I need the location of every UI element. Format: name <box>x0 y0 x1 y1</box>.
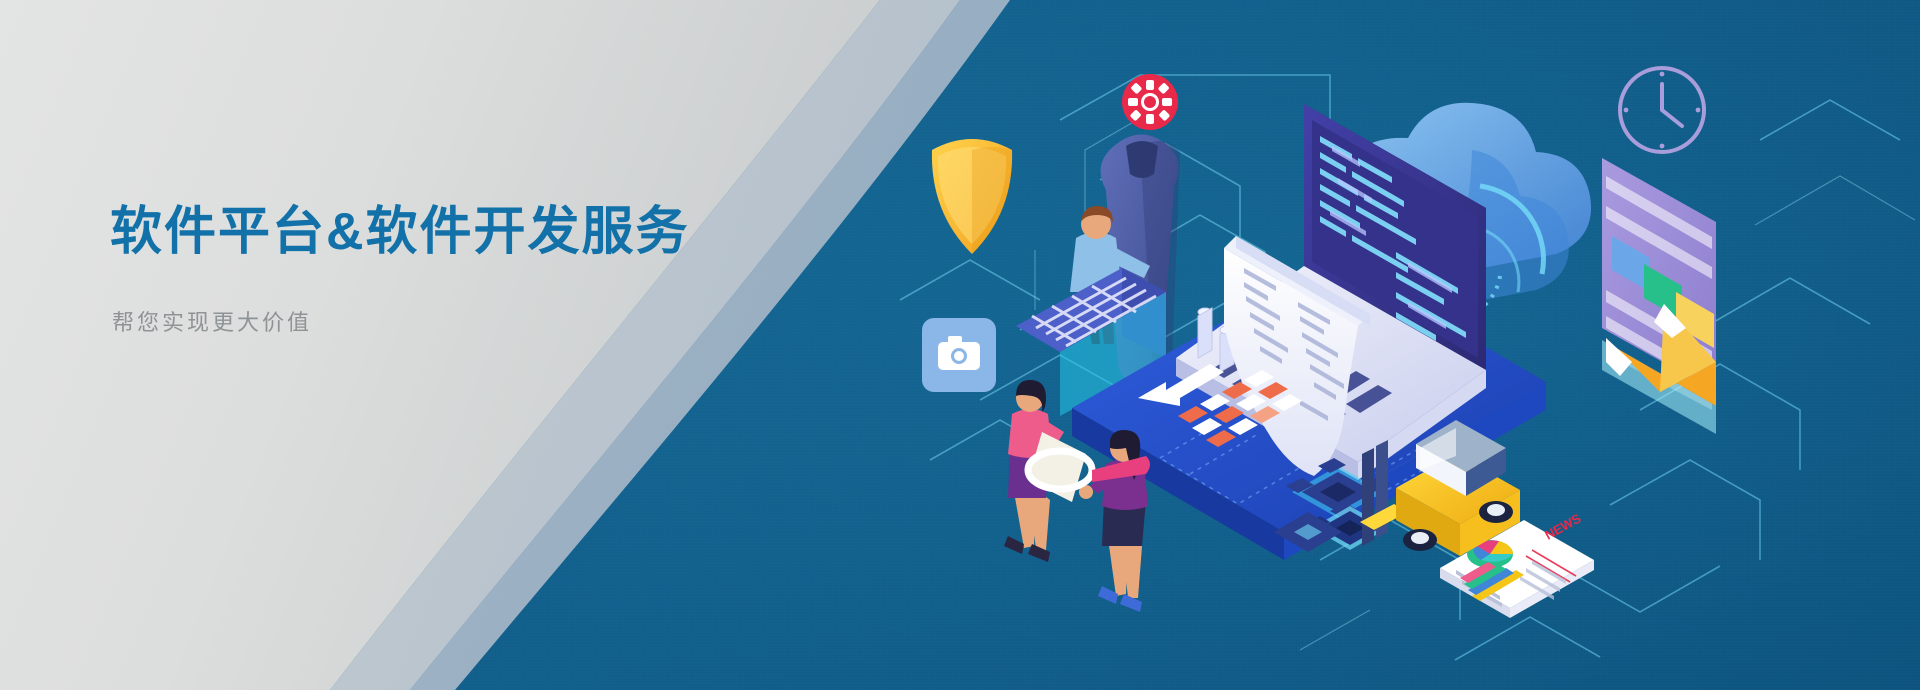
banner-copy: 软件平台&软件开发服务 帮您实现更大价值 <box>110 200 870 337</box>
shield-icon <box>932 139 1012 254</box>
hero-banner: 软件平台&软件开发服务 帮您实现更大价值 <box>0 0 1920 690</box>
news-label: NEWS <box>1542 510 1584 542</box>
clock-icon <box>1620 68 1704 152</box>
page-subtitle: 帮您实现更大价值 <box>112 305 870 337</box>
camera-icon <box>922 318 996 392</box>
gear-badge-icon <box>1122 74 1178 130</box>
illustration: NEWS <box>860 40 1920 660</box>
page-title: 软件平台&软件开发服务 <box>110 200 870 265</box>
